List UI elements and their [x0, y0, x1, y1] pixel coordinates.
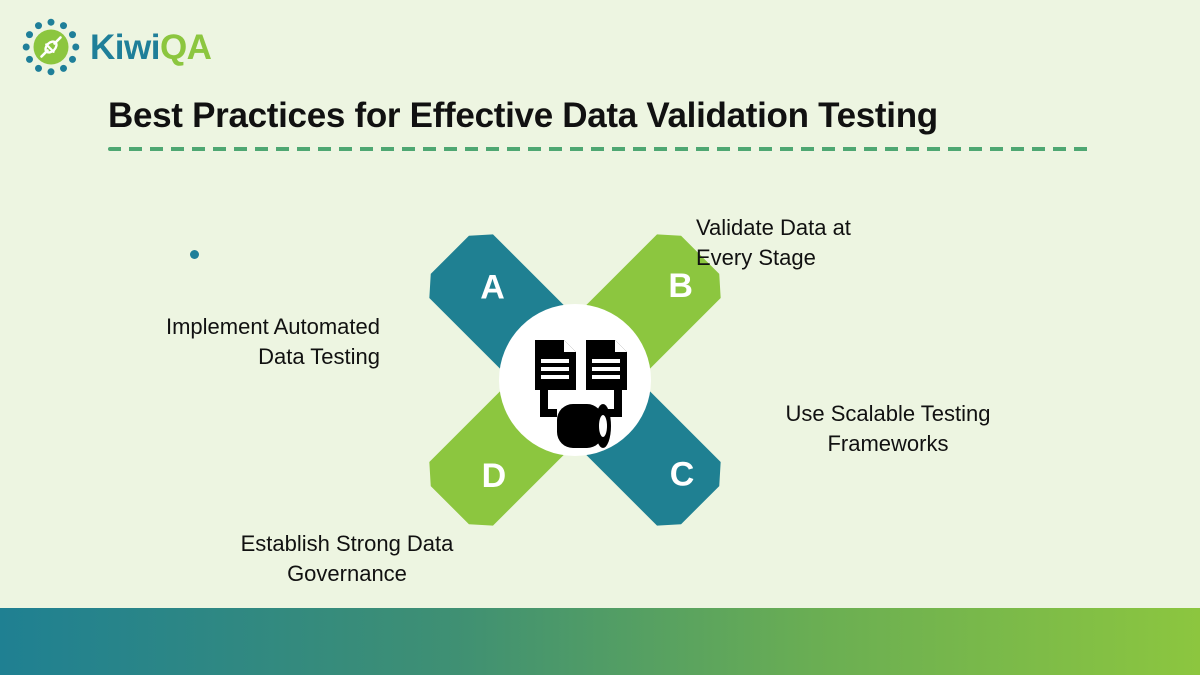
title-block: Best Practices for Effective Data Valida… [108, 96, 1098, 151]
spoke-label-b: Use Scalable Testing Frameworks [760, 399, 1016, 459]
svg-text:A: A [480, 269, 505, 307]
spoke-label-c: Establish Strong Data Governance [212, 529, 482, 589]
svg-text:D: D [482, 457, 507, 495]
slide-canvas: KiwiQA Best Practices for Effective Data… [0, 0, 1200, 675]
spoke-label-d: Implement Automated Data Testing [90, 312, 380, 372]
brand-name-kiwi: Kiwi [90, 28, 160, 67]
svg-text:B: B [668, 267, 693, 305]
accent-dot-left [190, 250, 199, 259]
title-divider [108, 147, 1092, 151]
svg-text:C: C [670, 455, 695, 493]
spoke-label-a: Validate Data at Every Stage [696, 213, 851, 273]
footer-gradient-band [0, 608, 1200, 675]
brand-name-qa: QA [160, 28, 212, 67]
kiwiqa-logo-icon [22, 18, 80, 76]
brand-name: KiwiQA [90, 30, 211, 65]
page-title: Best Practices for Effective Data Valida… [108, 96, 1098, 136]
brand-logo: KiwiQA [22, 18, 211, 76]
